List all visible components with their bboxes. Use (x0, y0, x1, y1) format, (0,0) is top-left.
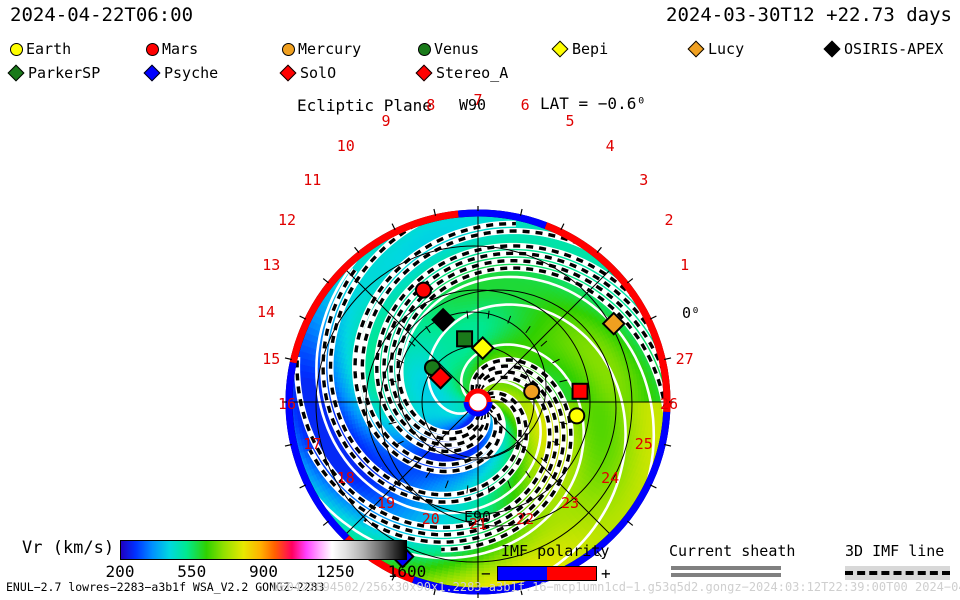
colorbar-tick-1250: 1250 (316, 562, 355, 581)
footer-faint-text: UE0422094502/256x30x90x1.2283−a3b1f.16−m… (272, 580, 960, 594)
imf-polarity-swatch (497, 566, 597, 581)
colorbar-tick-550: 550 (177, 562, 206, 581)
current-sheath-swatch (671, 566, 781, 580)
current-sheath-title: Current sheath (669, 542, 795, 560)
imf-minus-swatch (498, 567, 547, 580)
imf-plus-swatch (547, 567, 596, 580)
imf-polarity-title: IMF polarity (501, 542, 609, 560)
colorbar-ticks: 20055090012501600 (0, 0, 960, 600)
imf-3d-dashed-line (845, 571, 950, 575)
imf-3d-line-swatch (845, 566, 950, 580)
current-sheath-line-2 (671, 573, 781, 577)
colorbar-tick-200: 200 (106, 562, 135, 581)
colorbar-tick-900: 900 (249, 562, 278, 581)
imf-3d-line-title: 3D IMF line (845, 542, 944, 560)
colorbar-tick-1600: 1600 (388, 562, 427, 581)
